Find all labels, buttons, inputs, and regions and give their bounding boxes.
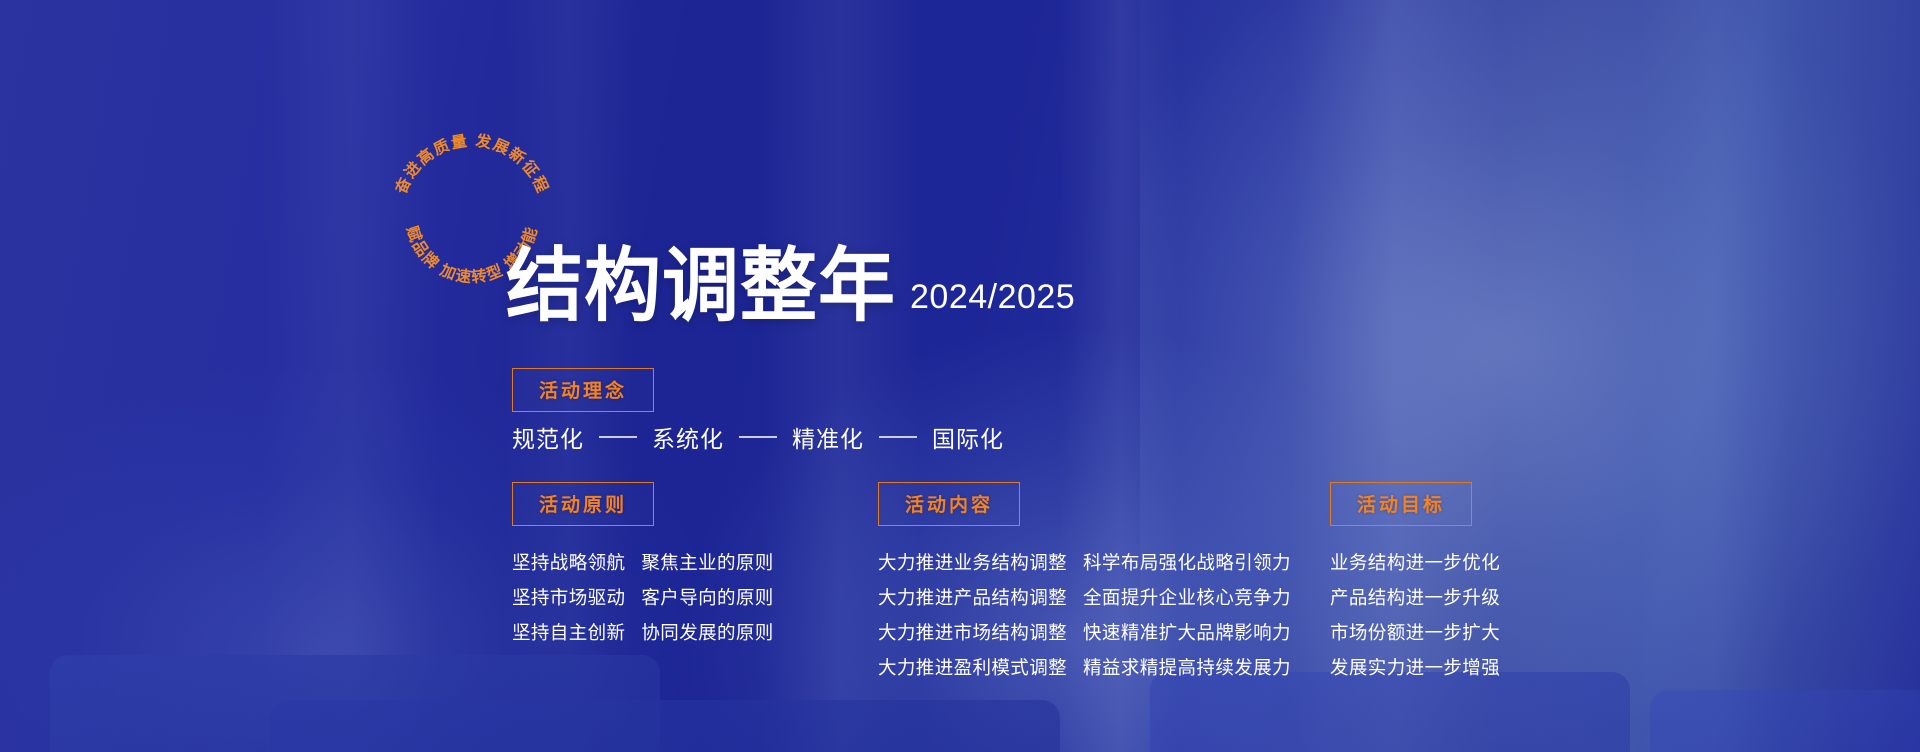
concept-item: 精准化 bbox=[792, 420, 864, 454]
background-rounded-panel bbox=[1150, 672, 1630, 752]
badge-principles-wrapper: 活动原则 bbox=[512, 482, 774, 526]
background-light-band bbox=[260, 0, 440, 752]
list-item: 大力推进市场结构调整快速精准扩大品牌影响力 bbox=[878, 618, 1291, 648]
list-item: 坚持市场驱动客户导向的原则 bbox=[512, 583, 774, 613]
list-item: 大力推进盈利模式调整精益求精提高持续发展力 bbox=[878, 653, 1291, 683]
list-item-primary: 大力推进市场结构调整 bbox=[878, 618, 1067, 648]
title-year-range: 2024/2025 bbox=[910, 278, 1075, 325]
list-item-primary: 坚持战略领航 bbox=[512, 548, 625, 578]
badge-goals: 活动目标 bbox=[1330, 482, 1472, 526]
concept-separator bbox=[879, 436, 917, 438]
concept-separator bbox=[599, 436, 637, 438]
principles-row-list: 坚持战略领航聚焦主业的原则坚持市场驱动客户导向的原则坚持自主创新协同发展的原则 bbox=[512, 548, 774, 648]
list-item: 坚持自主创新协同发展的原则 bbox=[512, 618, 774, 648]
badge-goals-wrapper: 活动目标 bbox=[1330, 482, 1500, 526]
list-item: 大力推进业务结构调整科学布局强化战略引领力 bbox=[878, 548, 1291, 578]
page-title: 结构调整年 bbox=[506, 248, 896, 325]
list-item-primary: 业务结构进一步优化 bbox=[1330, 548, 1500, 578]
concept-item: 规范化 bbox=[512, 420, 584, 454]
background-rounded-panel bbox=[270, 700, 1060, 752]
concept-item: 系统化 bbox=[652, 420, 724, 454]
list-item-secondary: 科学布局强化战略引领力 bbox=[1083, 548, 1291, 578]
list-item-secondary: 聚焦主业的原则 bbox=[641, 548, 773, 578]
badge-principles: 活动原则 bbox=[512, 482, 654, 526]
title-block: 结构调整年 2024/2025 bbox=[506, 252, 1075, 325]
list-item-secondary: 协同发展的原则 bbox=[641, 618, 773, 648]
list-item: 市场份额进一步扩大 bbox=[1330, 618, 1500, 648]
list-item-primary: 坚持市场驱动 bbox=[512, 583, 625, 613]
list-item-primary: 坚持自主创新 bbox=[512, 618, 625, 648]
contents-row-list: 大力推进业务结构调整科学布局强化战略引领力大力推进产品结构调整全面提升企业核心竞… bbox=[878, 548, 1291, 683]
circular-slogan-top: 奋进高质量 发展新征程 bbox=[391, 131, 552, 198]
list-item: 业务结构进一步优化 bbox=[1330, 548, 1500, 578]
badge-contents: 活动内容 bbox=[878, 482, 1020, 526]
list-item: 产品结构进一步升级 bbox=[1330, 583, 1500, 613]
list-item-primary: 发展实力进一步增强 bbox=[1330, 653, 1500, 683]
list-item: 发展实力进一步增强 bbox=[1330, 653, 1500, 683]
concept-item: 国际化 bbox=[932, 420, 1004, 454]
background-rounded-panel bbox=[1650, 690, 1920, 752]
goals-row-list: 业务结构进一步优化产品结构进一步升级市场份额进一步扩大发展实力进一步增强 bbox=[1330, 548, 1500, 683]
column-contents: 活动内容 大力推进业务结构调整科学布局强化战略引领力大力推进产品结构调整全面提升… bbox=[878, 482, 1291, 683]
background-rounded-panel bbox=[50, 655, 660, 752]
list-item-secondary: 客户导向的原则 bbox=[641, 583, 773, 613]
poster-canvas: 奋进高质量 发展新征程 赋品牌 加速转型 增动能 结构调整年 2024/2025… bbox=[0, 0, 1920, 752]
list-item-primary: 大力推进产品结构调整 bbox=[878, 583, 1067, 613]
column-principles: 活动原则 坚持战略领航聚焦主业的原则坚持市场驱动客户导向的原则坚持自主创新协同发… bbox=[512, 482, 774, 648]
concept-separator bbox=[739, 436, 777, 438]
list-item-secondary: 快速精准扩大品牌影响力 bbox=[1083, 618, 1291, 648]
list-item-primary: 大力推进盈利模式调整 bbox=[878, 653, 1067, 683]
concept-items-row: 规范化系统化精准化国际化 bbox=[512, 420, 1004, 454]
list-item: 坚持战略领航聚焦主业的原则 bbox=[512, 548, 774, 578]
list-item: 大力推进产品结构调整全面提升企业核心竞争力 bbox=[878, 583, 1291, 613]
list-item-secondary: 精益求精提高持续发展力 bbox=[1083, 653, 1291, 683]
list-item-primary: 大力推进业务结构调整 bbox=[878, 548, 1067, 578]
concept-badge-wrapper: 活动理念 bbox=[512, 368, 654, 412]
badge-concept: 活动理念 bbox=[512, 368, 654, 412]
list-item-secondary: 全面提升企业核心竞争力 bbox=[1083, 583, 1291, 613]
list-item-primary: 产品结构进一步升级 bbox=[1330, 583, 1500, 613]
list-item-primary: 市场份额进一步扩大 bbox=[1330, 618, 1500, 648]
badge-contents-wrapper: 活动内容 bbox=[878, 482, 1291, 526]
background-light-band bbox=[1640, 0, 1790, 752]
column-goals: 活动目标 业务结构进一步优化产品结构进一步升级市场份额进一步扩大发展实力进一步增… bbox=[1330, 482, 1500, 683]
